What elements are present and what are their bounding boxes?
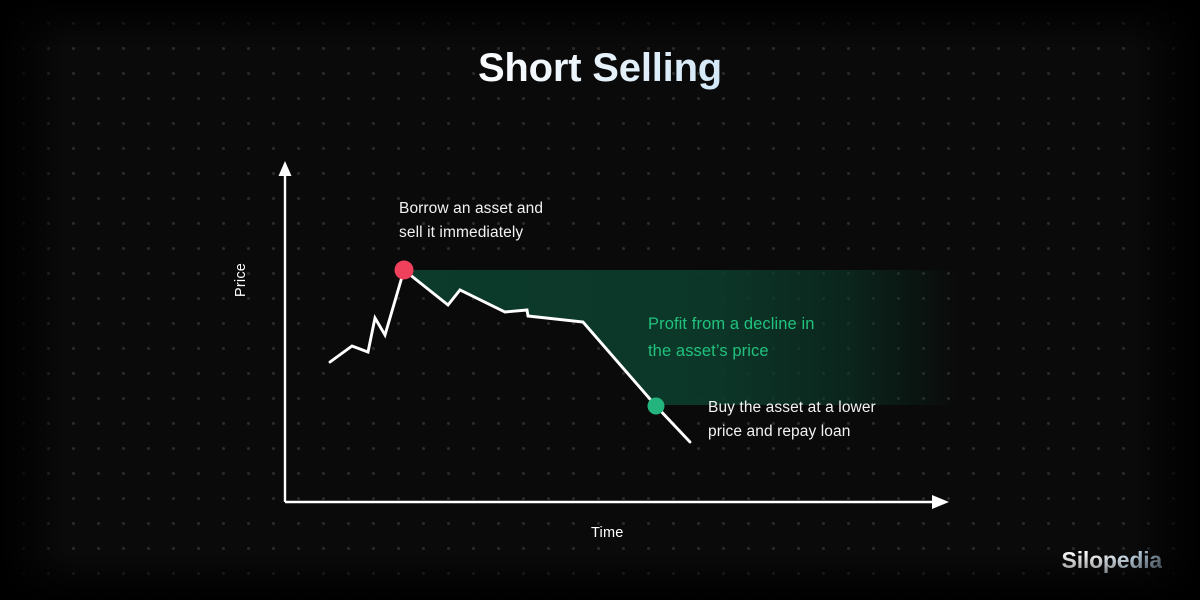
y-axis-label: Price: [233, 263, 249, 297]
brand-logo: Silopedia: [1062, 547, 1162, 574]
short-selling-chart: [0, 0, 1200, 600]
entry-marker[interactable]: [395, 261, 414, 280]
infographic-canvas: Short Selling Borrow an asset and sell i…: [0, 0, 1200, 600]
exit-marker[interactable]: [648, 398, 665, 415]
annotation-buy: Buy the asset at a lower price and repay…: [708, 396, 876, 444]
annotation-profit: Profit from a decline in the asset’s pri…: [648, 311, 815, 365]
y-axis-arrow-icon: [279, 161, 292, 176]
x-axis-label: Time: [591, 525, 623, 541]
x-axis-arrow-icon: [932, 495, 949, 509]
annotation-borrow: Borrow an asset and sell it immediately: [399, 197, 543, 245]
